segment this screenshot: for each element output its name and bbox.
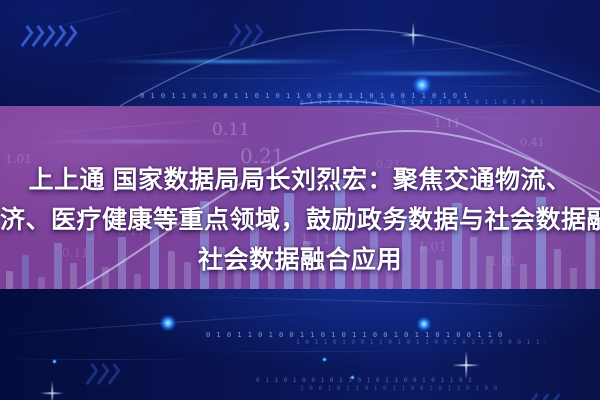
decor-streak [32, 3, 149, 33]
decor-glow-dot [160, 315, 176, 331]
decor-glow-dot [52, 359, 57, 364]
decor-streak [170, 295, 600, 307]
headline-line-1: 上上通 国家数据局局长刘烈宏：聚焦交通物流、 [0, 160, 600, 200]
binary-digits-row: 1 0 1 1 0 1 0 0 1 1 0 1 0 1 1 0 0 1 0 1 … [296, 339, 546, 346]
chart-float-label: 0.41 [520, 136, 545, 149]
decor-streak [430, 86, 580, 87]
decor-sparkle-icon [40, 381, 64, 400]
binary-digits-row: 0 1 1 0 1 0 0 1 0 1 1 0 1 0 1 1 0 0 1 0 … [300, 99, 600, 106]
decor-sparkle-icon [400, 22, 426, 48]
binary-digits-row: 0 1 0 1 1 0 1 0 0 1 1 0 1 0 1 1 0 0 1 0 … [206, 331, 506, 339]
background-band-top: 0 1 0 1 1 0 1 0 0 1 1 0 1 0 1 1 0 0 1 0 … [0, 0, 600, 106]
chevron-right-icon [85, 365, 117, 383]
decor-streak [0, 359, 210, 360]
decor-streak [95, 78, 395, 79]
decor-glow-dot [322, 357, 327, 362]
headline-line-3: 社会数据融合应用 [0, 240, 600, 280]
headline-line-2: 济、医疗健康等重点领域，鼓励政务数据与社会数据融 [0, 200, 600, 240]
chevron-right-icon [228, 26, 260, 44]
decor-glow-line [30, 140, 250, 143]
binary-digits-row: 0 1 1 0 1 0 0 1 0 1 1 0 1 0 1 1 0 0 1 0 … [256, 377, 476, 384]
chart-float-label: 0.11 [212, 120, 250, 140]
chevron-left-icon [529, 395, 561, 400]
decor-glow-line [330, 72, 540, 75]
banner-image: 0 1 0 1 1 0 1 0 0 1 1 0 1 0 1 1 0 0 1 0 … [0, 0, 600, 400]
decor-streak [198, 351, 418, 352]
chart-float-label: 1.11 [434, 116, 461, 130]
decor-glow-line [100, 60, 350, 63]
background-band-bottom: 0 1 0 1 1 0 1 0 0 1 1 0 1 0 1 1 0 0 1 0 … [0, 289, 600, 400]
binary-digits-row: 1 0 0 1 0 1 1 0 1 0 1 1 0 0 1 0 1 1 0 1 … [300, 385, 500, 392]
decor-sparkle-icon [452, 351, 480, 379]
decor-glow-dot [417, 317, 431, 331]
decor-streak [340, 42, 570, 55]
headline-block: 上上通 国家数据局局长刘烈宏：聚焦交通物流、 济、医疗健康等重点领域，鼓励政务数… [0, 160, 600, 280]
